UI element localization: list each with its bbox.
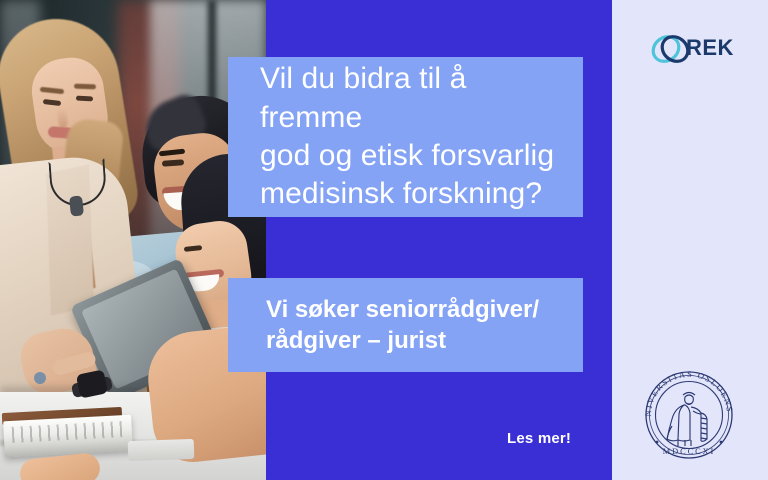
rek-wordmark: REK bbox=[686, 35, 734, 61]
uio-seal-apollo-figure bbox=[667, 393, 707, 447]
photo-keyboard bbox=[128, 439, 195, 461]
job-title-panel: Vi søker seniorrådgiver/ rådgiver – juri… bbox=[228, 278, 583, 372]
uio-seal-year-text: MDCCCXI bbox=[663, 447, 715, 456]
photo-woman1-eyebrow bbox=[74, 84, 96, 90]
job-title-text: Vi søker seniorrådgiver/ rådgiver – juri… bbox=[228, 294, 549, 356]
read-more-link[interactable]: Les mer! bbox=[507, 430, 571, 447]
recruitment-banner: Vil du bidra til å fremme god og etisk f… bbox=[0, 0, 768, 480]
headline-text: Vil du bidra til å fremme god og etisk f… bbox=[228, 60, 583, 214]
photo-woman1-ring bbox=[34, 372, 46, 384]
team-photo bbox=[0, 0, 266, 480]
photo-woman1-eye bbox=[76, 96, 93, 102]
photo-woman1-pendant bbox=[69, 195, 84, 216]
headline-panel: Vil du bidra til å fremme god og etisk f… bbox=[228, 57, 583, 217]
photo-woman1-nose bbox=[57, 108, 68, 129]
uio-seal: UNIVERSITAS OSLOENSIS MDCCCXI bbox=[638, 364, 740, 466]
rek-logo: REK bbox=[650, 26, 740, 72]
